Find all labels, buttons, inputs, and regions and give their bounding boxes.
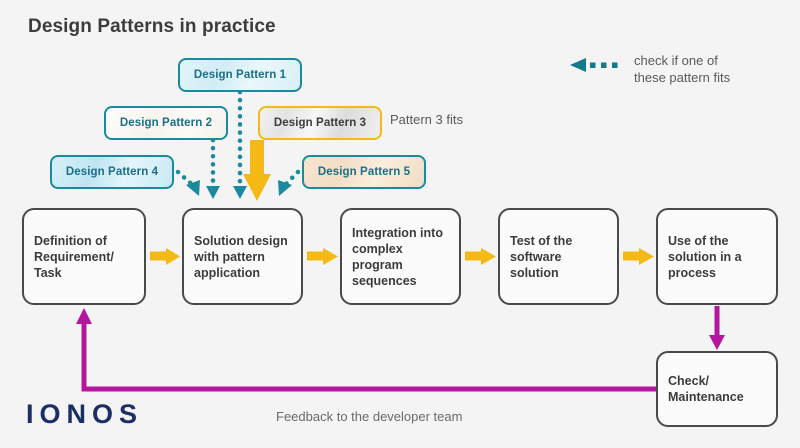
- legend-text: check if one of these pattern fits: [634, 52, 730, 86]
- arrow-use-to-check: [709, 306, 725, 350]
- step-arrow-4: [623, 248, 654, 265]
- legend-line-2: these pattern fits: [634, 69, 730, 86]
- selected-pattern-arrow: [243, 140, 271, 201]
- pattern-label: Design Pattern 1: [194, 69, 286, 81]
- legend-line-1: check if one of: [634, 52, 730, 69]
- pattern-label: Design Pattern 3: [274, 117, 366, 129]
- process-step-label: Test of the software solution: [510, 233, 607, 281]
- diagram-canvas: Design Patterns in practice: [0, 0, 800, 448]
- process-step-label: Check/ Maintenance: [668, 373, 766, 405]
- process-step-label: Use of the solution in a process: [668, 233, 766, 281]
- process-step-test[interactable]: Test of the software solution: [498, 208, 619, 305]
- dotted-connector-pattern-5: [278, 172, 298, 196]
- pattern-label: Design Pattern 5: [318, 166, 410, 178]
- process-step-check-maintenance[interactable]: Check/ Maintenance: [656, 351, 778, 427]
- process-step-definition[interactable]: Definition of Requirement/ Task: [22, 208, 146, 305]
- page-title: Design Patterns in practice: [28, 16, 276, 38]
- process-step-label: Solution design with pattern application: [194, 233, 291, 281]
- pattern-box-1[interactable]: Design Pattern 1: [178, 58, 302, 92]
- pattern-box-3[interactable]: Design Pattern 3: [258, 106, 382, 140]
- dotted-connector-pattern-2: [206, 140, 220, 199]
- pattern-box-5[interactable]: Design Pattern 5: [302, 155, 426, 189]
- step-arrow-2: [307, 248, 338, 265]
- pattern-box-4[interactable]: Design Pattern 4: [50, 155, 174, 189]
- process-step-solution-design[interactable]: Solution design with pattern application: [182, 208, 303, 305]
- ionos-logo: IONOS: [26, 399, 143, 430]
- step-arrow-1: [150, 248, 180, 265]
- dotted-connector-pattern-1: [233, 92, 247, 199]
- pattern-label: Design Pattern 4: [66, 166, 158, 178]
- step-arrow-3: [465, 248, 496, 265]
- pattern-label: Design Pattern 2: [120, 117, 212, 129]
- process-step-integration[interactable]: Integration into complex program sequenc…: [340, 208, 461, 305]
- pattern-box-2[interactable]: Design Pattern 2: [104, 106, 228, 140]
- dotted-connector-pattern-4: [178, 172, 200, 196]
- pattern-fit-note: Pattern 3 fits: [390, 112, 463, 127]
- process-step-label: Definition of Requirement/ Task: [34, 233, 134, 281]
- dotted-arrow-left-icon: [570, 58, 628, 72]
- feedback-label: Feedback to the developer team: [276, 409, 462, 424]
- process-step-use[interactable]: Use of the solution in a process: [656, 208, 778, 305]
- feedback-loop-connector: [76, 308, 656, 389]
- process-step-label: Integration into complex program sequenc…: [352, 225, 449, 289]
